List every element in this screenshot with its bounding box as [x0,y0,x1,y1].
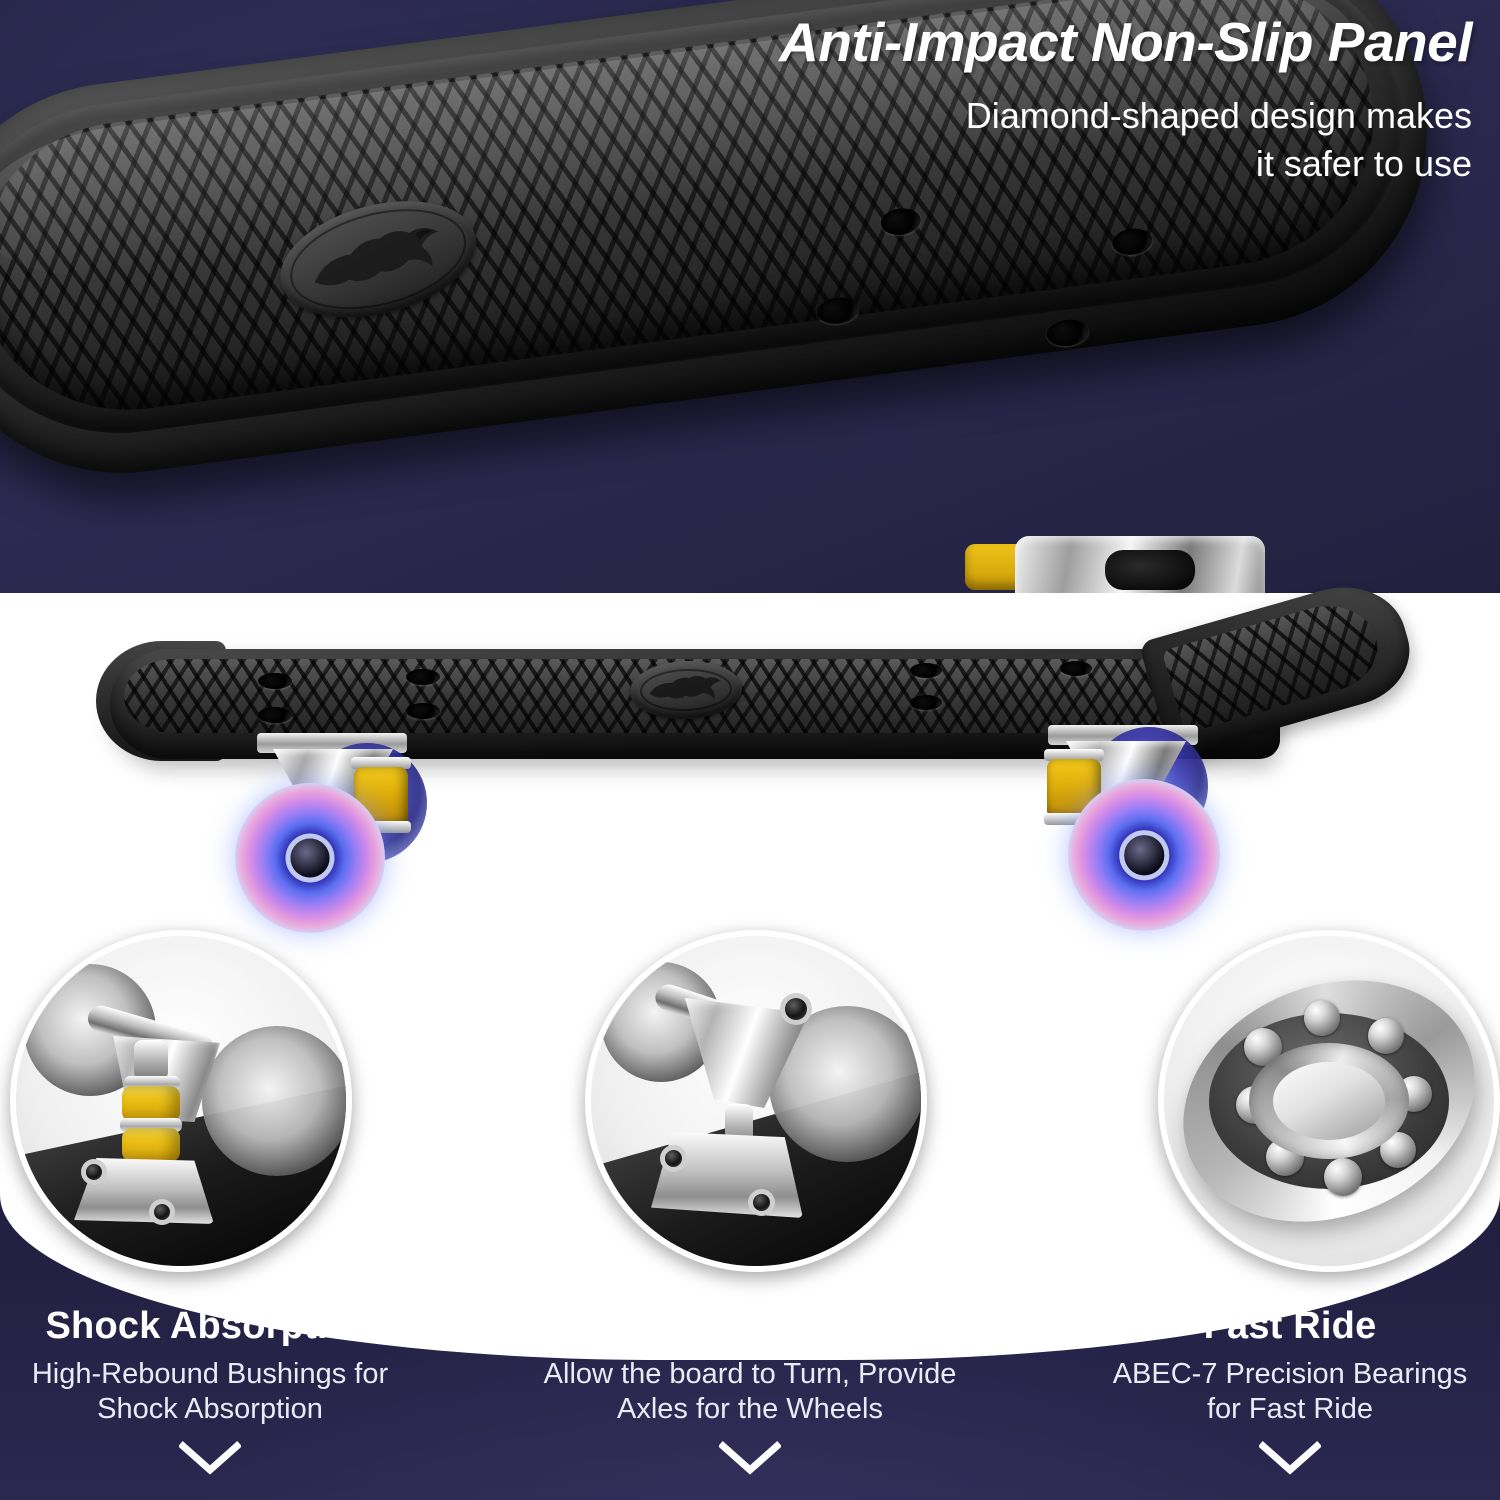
feature-title: Fast Ride [1080,1305,1500,1348]
kingpin [134,1040,168,1080]
photo-content [1164,936,1494,1266]
photo-content [16,936,346,1266]
feature-caption-shock-absorption: Shock Absorption High-Rebound Bushings f… [0,1305,420,1476]
front-wheel-led [235,783,385,933]
feature-description-line2: Shock Absorption [0,1392,420,1427]
hero-headline: Anti-Impact Non-Slip Panel [402,14,1472,72]
hero-subheadline-line1: Diamond-shaped design makes [832,92,1472,140]
feature-description-line1: ABEC-7 Precision Bearings [1080,1357,1500,1392]
hero-subheadline-line2: it safer to use [832,140,1472,188]
feature-title: Shock Absorption [0,1305,420,1348]
kingpin-nut [785,998,807,1020]
feature-description: Allow the board to Turn, Provide Axles f… [440,1357,1060,1428]
feature-caption-fast-ride: Fast Ride ABEC-7 Precision Bearings for … [1080,1305,1500,1476]
feature-description-line1: Allow the board to Turn, Provide [440,1357,1060,1392]
hero-truck-detail [955,536,1285,593]
baseplate-bolt [86,1164,102,1180]
bearing-bore [1273,1062,1385,1140]
baseplate-bolt [154,1204,170,1220]
mount-hole [910,695,942,710]
feature-description: ABEC-7 Precision Bearings for Fast Ride [1080,1357,1500,1428]
mount-hole [258,673,292,689]
hero-panel: Anti-Impact Non-Slip Panel Diamond-shape… [0,0,1500,593]
feature-caption-aluminum-truck: 3.25'' Aluminum Alloy Truck Allow the bo… [440,1305,1060,1476]
mount-hole [406,703,440,719]
kicktail-grip-surface [1162,593,1388,734]
feature-photo-aluminum-truck [585,930,927,1272]
chevron-down-icon [179,1440,241,1476]
mount-hole [910,663,942,678]
baseplate-bolt [753,1194,770,1211]
truck-baseplate [651,1132,803,1218]
wheel-blurred-rear [202,1026,352,1176]
feature-description-line2: Axles for the Wheels [440,1392,1060,1427]
chevron-down-icon [719,1440,781,1476]
feature-description-line1: High-Rebound Bushings for [0,1357,420,1392]
mount-hole [406,669,440,685]
baseplate-bolt [665,1150,682,1167]
hero-subheadline: Diamond-shaped design makes it safer to … [832,92,1472,187]
rear-wheel-led-front [1068,779,1220,931]
bearing-ball [1304,1000,1340,1036]
mount-hole [258,707,292,723]
photo-content [591,936,921,1266]
feature-photo-bearings [1158,930,1500,1272]
bushing-upper [122,1086,180,1122]
truck-shadow [1105,550,1195,590]
feature-description: High-Rebound Bushings for Shock Absorpti… [0,1357,420,1428]
leaping-horse-icon [644,669,727,711]
chevron-down-icon [1259,1440,1321,1476]
feature-photo-shock-absorption [10,930,352,1272]
bearing-ball [1324,1158,1362,1196]
feature-description-line2: for Fast Ride [1080,1392,1500,1427]
bushing-lower [122,1128,180,1162]
bearing-ball [1368,1018,1404,1054]
mount-hole [1060,661,1092,676]
product-feature-banner: Anti-Impact Non-Slip Panel Diamond-shape… [0,0,1500,1500]
rear-wheel-assembly [1030,721,1310,971]
hero-deck-image [0,0,1492,586]
feature-title: 3.25'' Aluminum Alloy Truck [440,1305,1060,1348]
